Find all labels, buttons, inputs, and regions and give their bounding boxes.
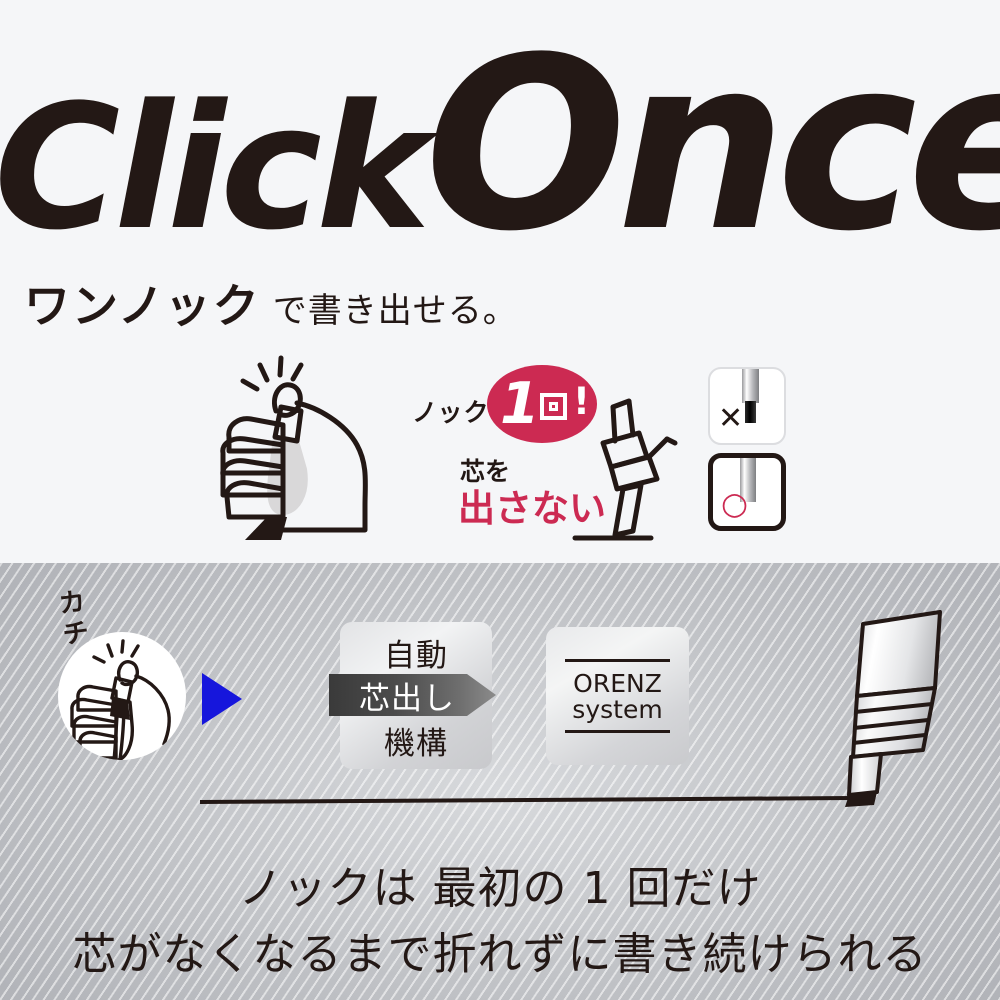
panel-mechanism-line1-text: 自動	[384, 630, 448, 675]
rule-bottom	[565, 730, 670, 733]
brand-system: system	[546, 695, 689, 724]
footer-copy-line1: ノックは 最初の 1 回だけ	[0, 852, 1000, 916]
circle-icon: ○	[721, 489, 748, 519]
rule-top	[565, 659, 670, 662]
hand-clicking-pen-circle-icon	[58, 632, 186, 760]
subheadline-strong: ワンノック	[24, 270, 261, 336]
page-title: ClickOnce!	[0, 46, 994, 246]
title-click: Click	[0, 67, 425, 268]
icon-box-lead-in-good: ○	[708, 453, 786, 531]
pen-tip-no-lead-icon	[555, 395, 695, 545]
sfx-char-1: カ	[50, 586, 93, 622]
subheadline-rest: で書き出せる。	[273, 283, 518, 332]
panel-mechanism-line1: 自動	[340, 630, 492, 674]
poster-root: ClickOnce! ワンノック で書き出せる。	[0, 0, 1000, 1000]
blue-play-triangle-icon	[202, 673, 242, 725]
icon-box-lead-out-bad: ✕	[708, 367, 786, 445]
subheadline: ワンノック で書き出せる。	[24, 270, 518, 320]
pencil-tip-writing-icon	[795, 610, 995, 815]
title-once: Once	[425, 7, 1000, 284]
panel-mechanism-banner: 芯出し	[329, 674, 496, 716]
banner-text: 芯出し	[337, 674, 477, 716]
hand-clicking-pen-icon	[205, 345, 415, 540]
footer-copy-line2: 芯がなくなるまで折れずに書き続けられる	[0, 918, 1000, 982]
cross-icon: ✕	[718, 404, 743, 434]
knock-label: ノック	[412, 393, 490, 429]
panel-orenz-system: ORENZ system	[546, 627, 689, 765]
knock-count-number: 1	[500, 369, 540, 439]
panel-mechanism-line3-text: 機構	[384, 718, 448, 763]
panel-auto-lead-mechanism: 自動 芯出し 機構	[340, 622, 492, 769]
brand-name: ORENZ	[546, 669, 689, 698]
panel-mechanism-line3: 機構	[340, 718, 492, 762]
upper-section: ClickOnce! ワンノック で書き出せる。	[0, 0, 1000, 563]
